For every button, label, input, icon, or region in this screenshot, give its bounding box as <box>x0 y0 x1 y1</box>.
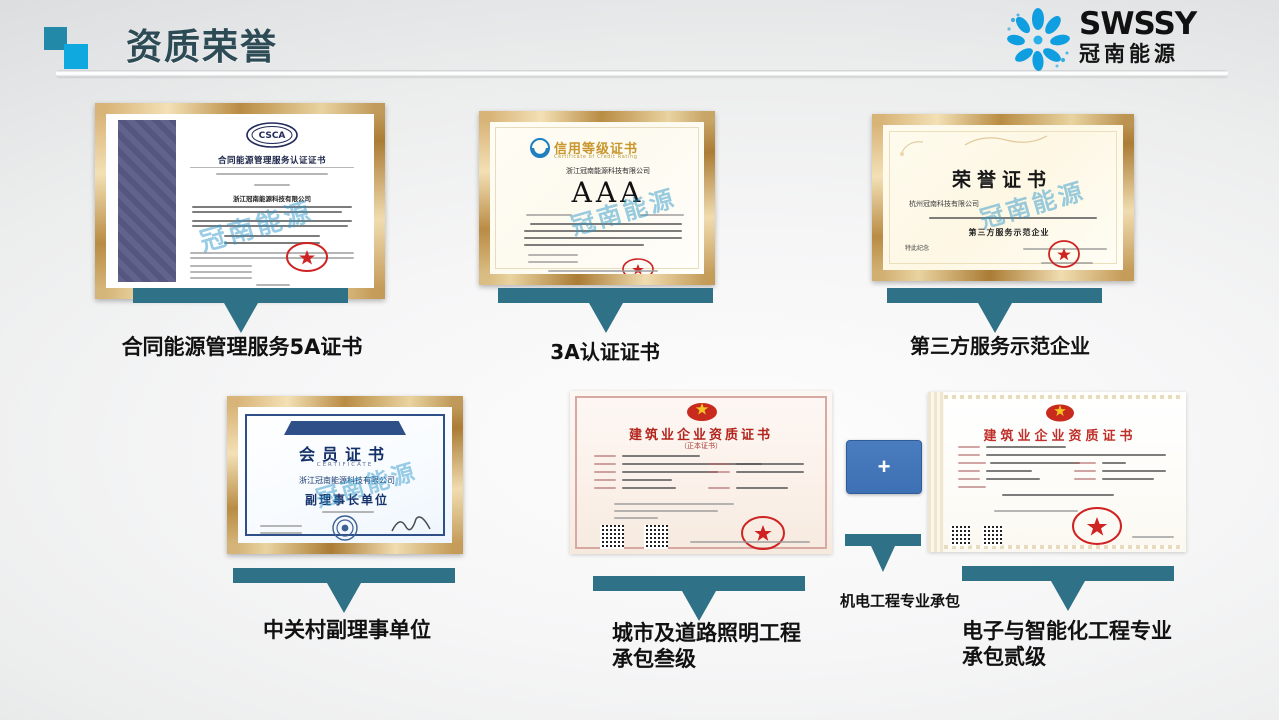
red-seal-icon <box>286 242 328 272</box>
qr-code-icon <box>950 526 970 546</box>
callout-arrow-3a <box>498 288 713 333</box>
certificate-member-award: 副理事长单位 <box>258 491 436 508</box>
page-title: 资质荣誉 <box>126 18 278 70</box>
certificate-honor-title: 荣誉证书 <box>913 165 1091 192</box>
member-ribbon <box>284 421 406 435</box>
caption-construction-2: 电子与智能化工程专业承包贰级 <box>962 618 1172 671</box>
certificate-construction-1-page: 建筑业企业资质证书 （正本证书） <box>570 391 832 554</box>
certificate-member-company: 浙江冠南能源科技有限公司 <box>258 475 436 486</box>
national-emblem-icon <box>1041 402 1079 423</box>
callout-arrow-mechanical <box>845 534 921 572</box>
ornament-icon <box>899 139 925 157</box>
header-square-light <box>64 44 88 69</box>
logo-text-block: SWSSY 冠南能源 <box>1079 8 1196 67</box>
credit-rating-logo-icon <box>530 138 550 158</box>
ornament-icon <box>961 133 1051 149</box>
certificate-3a[interactable]: 信用等级证书 Certificate of Credit Rating 浙江冠南… <box>479 111 715 285</box>
caption-5a: 合同能源管理服务5A证书 <box>62 334 422 360</box>
national-emblem-icon <box>682 400 722 422</box>
certificate-3a-company: 浙江冠南能源科技有限公司 <box>514 166 702 176</box>
red-seal-icon <box>738 515 788 551</box>
certificate-3a-subtitle-en: Certificate of Credit Rating <box>554 154 638 160</box>
certificate-member[interactable]: 会员证书 CERTIFICATE 浙江冠南能源科技有限公司 副理事长单位 冠南能… <box>227 396 463 554</box>
caption-member: 中关村副理事单位 <box>222 617 472 643</box>
certificate-member-page: 会员证书 CERTIFICATE 浙江冠南能源科技有限公司 副理事长单位 冠南能… <box>238 407 452 543</box>
certificate-construction-2-page: 建筑业企业资质证书 <box>928 392 1186 552</box>
csca-emblem-icon: CSCA <box>246 122 298 148</box>
red-seal-icon <box>1043 239 1085 269</box>
certificate-construction-2-left-band <box>928 392 944 552</box>
qr-code-icon <box>644 525 668 549</box>
signature-icon <box>388 513 434 535</box>
slide-canvas: 资质荣誉 <box>0 0 1279 720</box>
certificate-honor[interactable]: 荣誉证书 杭州冠南科技有限公司 第三方服务示范企业 特此纪念 冠南能源 <box>872 114 1134 281</box>
callout-arrow-construction-1 <box>593 576 805 621</box>
red-seal-icon <box>1068 506 1126 546</box>
qr-code-icon <box>982 526 1002 546</box>
certificate-5a[interactable]: CSCA 合同能源管理服务认证证书 浙江冠南能源科技有限公司 <box>95 103 385 299</box>
certificate-construction-1-subtitle: （正本证书） <box>594 441 808 451</box>
callout-arrow-construction-2 <box>962 566 1174 611</box>
certificate-member-subtitle-en: CERTIFICATE <box>262 462 428 468</box>
certificate-honor-company: 杭州冠南科技有限公司 <box>909 199 979 209</box>
certificate-3a-grade: AAA <box>514 176 702 209</box>
add-button[interactable]: + <box>846 440 922 494</box>
certificate-5a-page: CSCA 合同能源管理服务认证证书 浙江冠南能源科技有限公司 <box>106 114 374 288</box>
callout-arrow-honor <box>887 288 1102 333</box>
certificate-5a-title: 合同能源管理服务认证证书 <box>188 154 356 166</box>
callout-arrow-5a <box>133 288 348 333</box>
certificate-construction-2[interactable]: 建筑业企业资质证书 <box>928 392 1186 552</box>
caption-3a: 3A认证证书 <box>495 340 715 365</box>
certificate-honor-award: 第三方服务示范企业 <box>909 227 1109 238</box>
callout-arrow-member <box>233 568 455 613</box>
certificate-construction-1[interactable]: 建筑业企业资质证书 （正本证书） <box>570 391 832 554</box>
swssy-petal-mark-icon <box>1005 8 1071 72</box>
caption-honor: 第三方服务示范企业 <box>880 334 1120 359</box>
certificate-3a-page: 信用等级证书 Certificate of Credit Rating 浙江冠南… <box>490 122 704 274</box>
certificate-honor-note: 特此纪念 <box>905 243 929 252</box>
company-logo: SWSSY 冠南能源 <box>1005 6 1265 74</box>
logo-brand-cn: 冠南能源 <box>1079 41 1196 67</box>
certificate-5a-company: 浙江冠南能源科技有限公司 <box>190 193 354 203</box>
svg-text:CSCA: CSCA <box>259 131 286 141</box>
certificate-honor-page: 荣誉证书 杭州冠南科技有限公司 第三方服务示范企业 特此纪念 冠南能源 <box>883 125 1123 270</box>
logo-brand-en: SWSSY <box>1079 8 1196 40</box>
qr-code-icon <box>600 525 624 549</box>
caption-construction-1: 城市及道路照明工程承包叁级 <box>612 620 812 673</box>
certificate-5a-side-panel <box>118 120 176 282</box>
member-seal-icon <box>332 515 358 541</box>
certificate-construction-2-title: 建筑业企业资质证书 <box>954 425 1166 444</box>
